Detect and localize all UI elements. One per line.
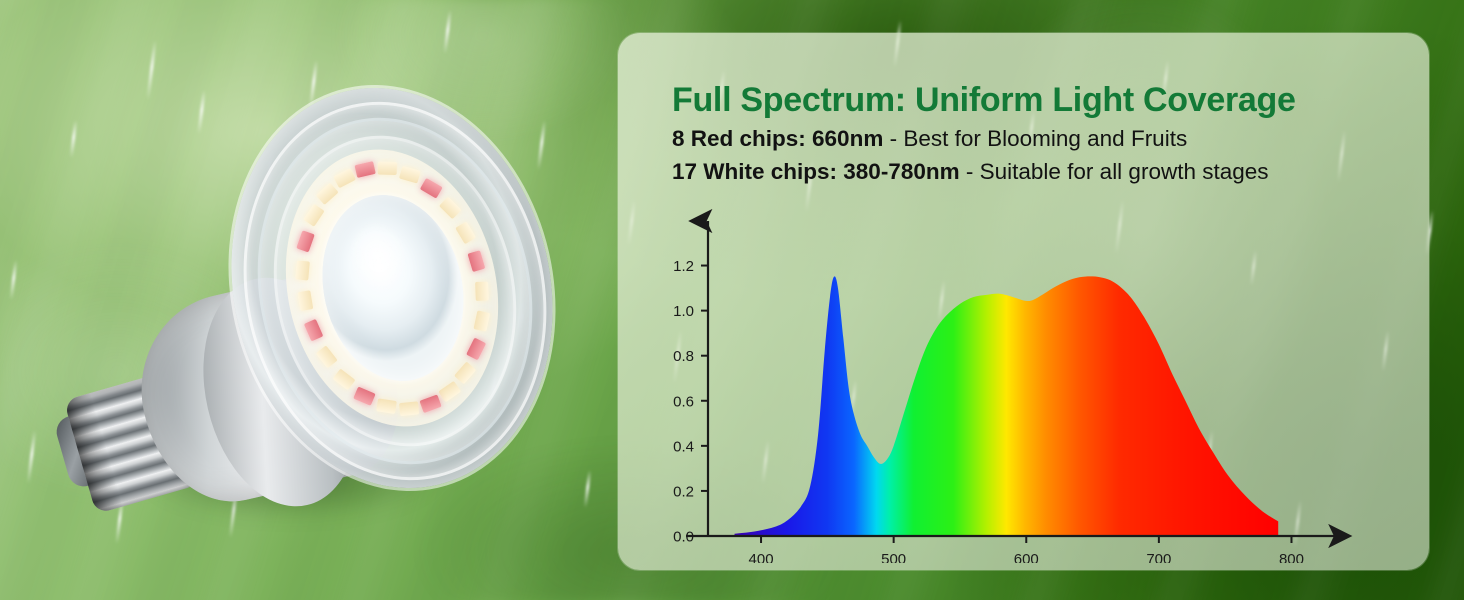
x-tick-label: 400	[749, 551, 774, 563]
y-tick-label: 1.2	[673, 258, 694, 275]
led-chip-red	[420, 178, 443, 199]
led-chip-red	[467, 250, 485, 272]
bullet-white-chips-rest: - Suitable for all growth stages	[960, 159, 1269, 184]
bullet-red-chips: 8 Red chips: 660nm - Best for Blooming a…	[672, 126, 1187, 152]
x-tick-label: 800	[1279, 551, 1304, 563]
led-chip-white	[399, 166, 421, 184]
page-title: Full Spectrum: Uniform Light Coverage	[672, 81, 1296, 120]
x-axis-ticks: 400500600700800	[749, 536, 1304, 563]
led-chip-white	[316, 183, 339, 205]
led-chip-red	[419, 394, 441, 413]
y-tick-label: 0.4	[673, 438, 694, 455]
led-chip-white	[454, 361, 476, 384]
led-chip-red	[466, 338, 486, 361]
x-tick-label: 700	[1146, 551, 1171, 563]
led-chip-red	[296, 230, 315, 252]
spectrum-chart-svg: 0.00.20.40.60.81.01.2 400500600700800	[618, 203, 1429, 563]
x-tick-label: 500	[881, 551, 906, 563]
led-chip-white	[475, 282, 489, 301]
spectrum-curve-area	[735, 276, 1279, 536]
led-chip-white	[303, 204, 324, 227]
bullet-red-chips-bold: 8 Red chips: 660nm	[672, 126, 883, 151]
bullet-white-chips: 17 White chips: 380-780nm - Suitable for…	[672, 159, 1269, 185]
led-chip-white	[333, 368, 356, 390]
led-chip-white	[295, 260, 310, 280]
promo-banner: Full Spectrum: Uniform Light Coverage 8 …	[0, 0, 1464, 600]
led-chip-red	[304, 319, 324, 342]
led-chip-white	[316, 345, 338, 368]
bullet-white-chips-bold: 17 White chips: 380-780nm	[672, 159, 960, 184]
led-chip-red	[353, 386, 376, 405]
led-chip-white	[473, 310, 490, 331]
led-chip-red	[354, 161, 375, 178]
y-axis-ticks: 0.00.20.40.60.81.01.2	[673, 258, 708, 545]
y-tick-label: 0.6	[673, 393, 694, 410]
y-tick-label: 0.8	[673, 348, 694, 365]
led-chip-white	[455, 221, 476, 244]
led-chip-white	[333, 168, 356, 188]
led-chip-white	[297, 290, 313, 311]
spectrum-chart: 0.00.20.40.60.81.01.2 400500600700800	[618, 203, 1429, 563]
led-chip-white	[376, 398, 397, 414]
led-chip-white	[439, 197, 462, 220]
y-tick-label: 1.0	[673, 303, 694, 320]
y-tick-label: 0.2	[673, 483, 694, 500]
led-chip-white	[378, 162, 397, 175]
product-image-led-grow-bulb	[56, 62, 556, 542]
bullet-red-chips-rest: - Best for Blooming and Fruits	[883, 126, 1187, 151]
led-chip-white	[399, 401, 419, 416]
x-tick-label: 600	[1014, 551, 1039, 563]
led-chip-white	[438, 381, 461, 402]
info-panel: Full Spectrum: Uniform Light Coverage 8 …	[618, 33, 1429, 570]
